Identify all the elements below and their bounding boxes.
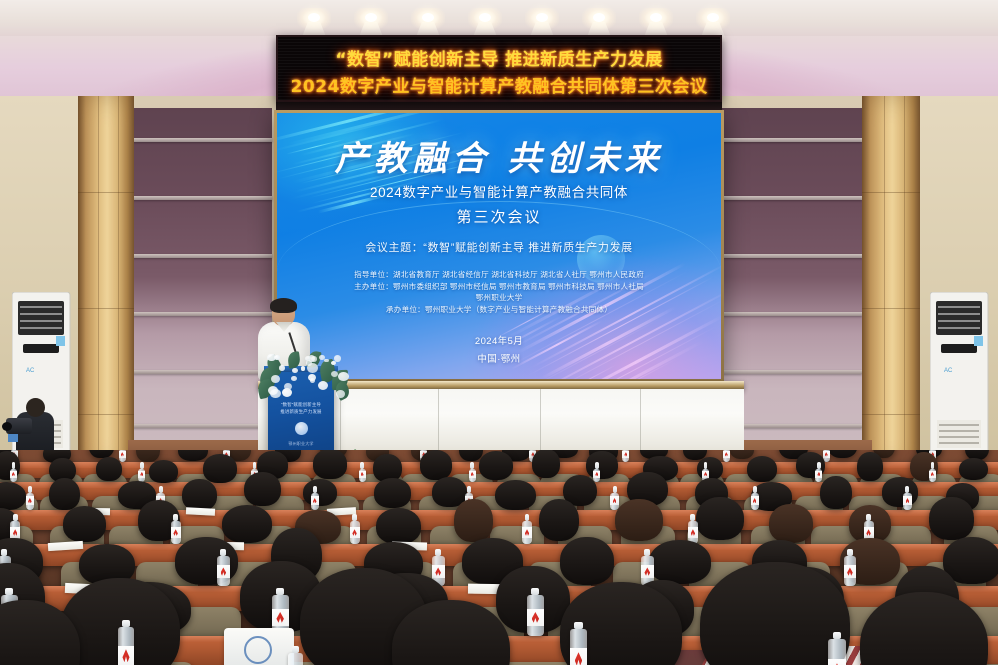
- bouquet-flower: [310, 378, 315, 383]
- organizer-line: 指导单位：湖北省教育厅 湖北省经信厅 湖北省科技厅 湖北省人社厅 鄂州市人民政府: [277, 269, 721, 281]
- ceiling-spotlight: [411, 8, 445, 36]
- podium-line-2: 推进新质生产力发展: [268, 409, 334, 415]
- audience-member: [959, 458, 988, 481]
- audience-member: [222, 505, 273, 543]
- audience-member: [479, 451, 513, 480]
- audience-member: [747, 456, 777, 482]
- podium-line-3: 鄂州职业大学: [268, 441, 334, 447]
- screen-subtitle-2: 第三次会议: [277, 206, 721, 227]
- water-bottle: [688, 514, 698, 544]
- bouquet-flower: [291, 376, 297, 381]
- ceiling-spotlight: [696, 8, 730, 36]
- audience-member: [560, 537, 614, 585]
- water-bottle-foreground: [118, 620, 134, 665]
- audience-member: [420, 450, 452, 479]
- desk-cloth: [224, 628, 294, 665]
- audience-member: [730, 450, 754, 459]
- audience-member: [696, 497, 744, 541]
- water-bottle: [751, 486, 759, 510]
- audience-member: [769, 504, 813, 543]
- wood-column-left: [78, 96, 134, 468]
- bouquet-flower: [318, 381, 328, 390]
- bouquet-flower: [284, 383, 292, 390]
- water-bottle: [815, 462, 822, 482]
- water-bottle: [522, 514, 532, 544]
- bouquet-flower: [301, 366, 306, 370]
- water-bottle: [610, 486, 618, 510]
- flower-arrangement: [258, 350, 350, 402]
- glasses-icon: [273, 310, 294, 315]
- audience-member: [532, 450, 560, 478]
- ceiling-spotlight: [525, 8, 559, 36]
- screen-date: 2024年5月: [277, 335, 721, 349]
- water-bottle: [26, 486, 34, 510]
- audience-member: [615, 499, 663, 541]
- audience-member: [697, 457, 723, 480]
- ceiling-spotlight: [354, 8, 388, 36]
- water-bottle: [593, 462, 600, 482]
- bouquet-flower: [331, 361, 336, 365]
- projection-screen: 产教融合 共创未来 2024数字产业与智能计算产教融合共同体 第三次会议 会议主…: [277, 113, 721, 379]
- screen-subtitle-1: 2024数字产业与智能计算产教融合共同体: [277, 181, 721, 201]
- water-bottle: [844, 549, 857, 586]
- bouquet-flower: [270, 389, 281, 399]
- water-bottle: [217, 549, 230, 586]
- screen-theme-line: 会议主题：“数智”赋能创新主导 推进新质生产力发展: [277, 239, 721, 255]
- water-bottle: [903, 486, 911, 510]
- water-bottle: [311, 486, 319, 510]
- water-bottle: [929, 462, 936, 482]
- wood-column-right: [862, 96, 920, 468]
- audience-member: [882, 477, 918, 507]
- water-bottle-foreground: [288, 646, 303, 665]
- audience-member: [539, 499, 580, 541]
- acoustic-panel-left: [132, 108, 272, 460]
- screen-frame: 产教融合 共创未来 2024数字产业与智能计算产教融合共同体 第三次会议 会议主…: [274, 110, 724, 382]
- podium-line-1: “数智”赋能创新主导: [268, 402, 334, 408]
- audience-member: [178, 450, 208, 461]
- bouquet-flower: [336, 390, 345, 398]
- audience-area: [0, 450, 998, 665]
- led-banner: “数智”赋能创新主导 推进新质生产力发展 2024数字产业与智能计算产教融合共同…: [276, 35, 722, 102]
- bouquet-flower: [271, 375, 280, 383]
- ceiling-spotlight: [639, 8, 673, 36]
- audience-member: [586, 451, 618, 479]
- audience-member: [495, 480, 536, 510]
- water-bottle-foreground: [828, 632, 846, 665]
- audience-member: [376, 508, 421, 544]
- water-bottle: [350, 514, 360, 544]
- svg-text:AC: AC: [944, 368, 953, 374]
- water-bottle: [119, 450, 126, 462]
- camera-lens-icon: [2, 422, 12, 431]
- audience-member: [828, 450, 857, 458]
- audience-member: [649, 540, 710, 584]
- organizer-block: 指导单位：湖北省教育厅 湖北省经信厅 湖北省科技厅 湖北省人社厅 鄂州市人民政府…: [277, 269, 721, 315]
- water-bottle: [171, 514, 181, 544]
- organizer-line: 鄂州职业大学: [277, 292, 721, 304]
- audience-member: [203, 454, 237, 483]
- svg-text:AC: AC: [26, 368, 35, 374]
- audience-member: [313, 450, 347, 479]
- water-bottle: [10, 462, 17, 482]
- water-bottle: [469, 462, 476, 482]
- led-banner-line-1: “数智”赋能创新主导 推进新质生产力发展: [278, 45, 720, 70]
- podium-logo-icon: [295, 422, 308, 435]
- led-banner-line-2: 2024数字产业与智能计算产教融合共同体第三次会议: [278, 72, 720, 97]
- organizer-line: 主办单位：鄂州市委组织部 鄂州市经信局 鄂州市教育局 鄂州市科技局 鄂州市人社局: [277, 281, 721, 293]
- water-bottle: [359, 462, 366, 482]
- bouquet-flower: [279, 365, 285, 370]
- audience-member: [182, 479, 217, 511]
- ceiling-spotlight: [468, 8, 502, 36]
- water-bottle: [138, 462, 145, 482]
- audience-member: [96, 457, 122, 481]
- bouquet-flower: [338, 372, 348, 381]
- water-bottle: [527, 588, 544, 636]
- conference-hall-photo: “数智”赋能创新主导 推进新质生产力发展 2024数字产业与智能计算产教融合共同…: [0, 0, 998, 665]
- audience-member: [244, 472, 281, 507]
- audience-member: [63, 506, 106, 542]
- water-bottle: [622, 450, 629, 462]
- audience-member: [303, 479, 337, 506]
- audience-member: [857, 452, 883, 481]
- bouquet-flower: [292, 368, 298, 373]
- ceiling-spotlight: [582, 8, 616, 36]
- audience-paper: [186, 507, 215, 516]
- bouquet-flower: [274, 355, 280, 360]
- bouquet-flower: [311, 356, 317, 362]
- audience-member: [49, 478, 80, 510]
- bouquet-leaf: [287, 351, 301, 368]
- audience-member: [929, 497, 974, 540]
- air-conditioner-right: AC: [930, 292, 992, 472]
- bouquet-flower: [324, 359, 328, 363]
- screen-main-title: 产教融合 共创未来: [277, 131, 721, 180]
- water-bottle: [723, 450, 730, 462]
- ceiling-spotlight: [297, 8, 331, 36]
- organizer-line: 承办单位：鄂州职业大学（数字产业与智能计算产教融合共同体）: [277, 304, 721, 316]
- operator-head: [26, 398, 45, 417]
- audience-member: [454, 499, 493, 541]
- camera-monitor-icon: [8, 434, 18, 442]
- water-bottle-foreground: [570, 622, 587, 665]
- audience-member: [374, 478, 411, 508]
- bouquet-flower: [319, 355, 324, 360]
- audience-member: [149, 460, 178, 483]
- audience-member: [820, 476, 852, 509]
